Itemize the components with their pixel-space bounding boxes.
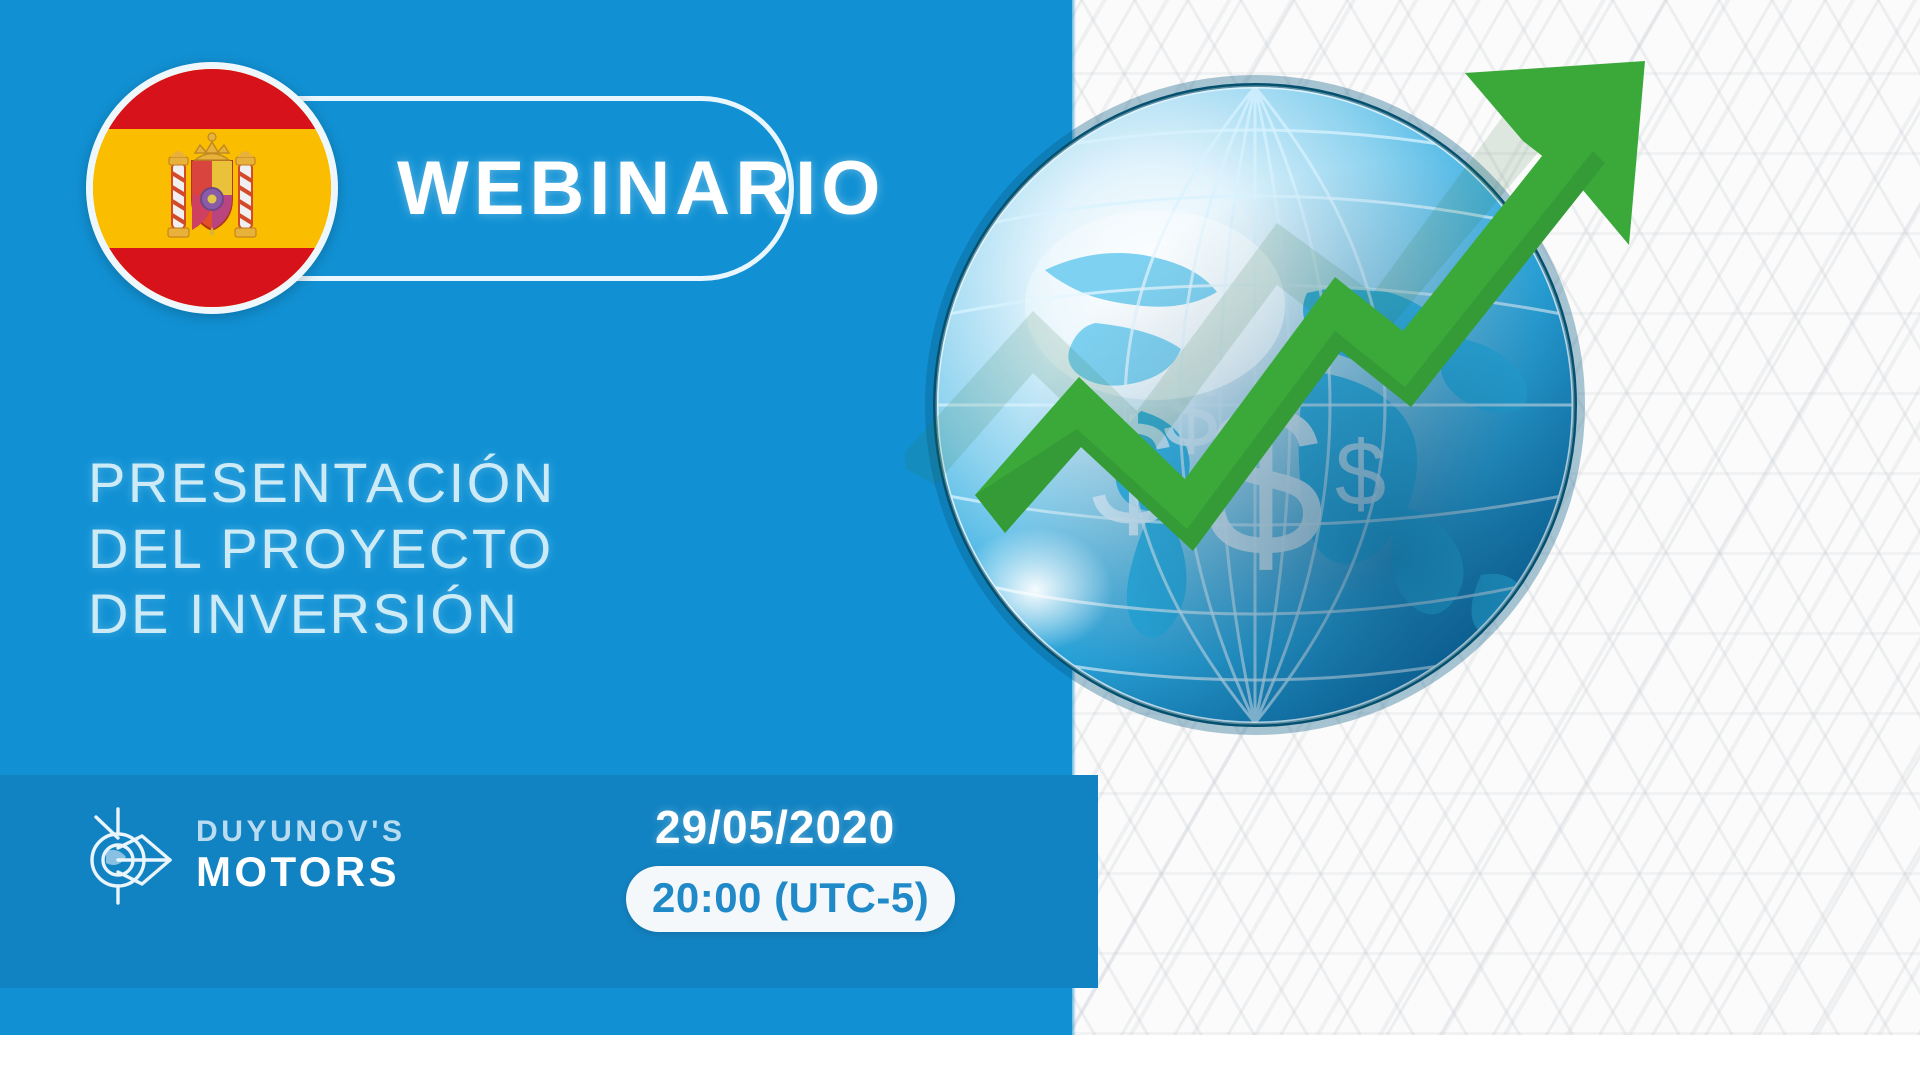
brand-name-top: DUYUNOV'S: [196, 817, 406, 847]
growth-arrow-icon: [905, 55, 1665, 845]
brand-name-bottom: MOTORS: [196, 851, 406, 893]
heading-line-3: DE INVERSIÓN: [88, 581, 728, 647]
banner-root: WEBINARIO: [0, 0, 1920, 1080]
flag-stripe-bottom: [93, 248, 331, 308]
event-time-badge: 20:00 (UTC-5): [626, 866, 955, 932]
event-date: 29/05/2020: [655, 800, 895, 854]
duyunov-motors-mark-icon: [84, 805, 176, 905]
globe-graphic: $ $ $ $: [905, 55, 1665, 845]
heading-line-1: PRESENTACIÓN: [88, 450, 728, 516]
page-title: PRESENTACIÓN DEL PROYECTO DE INVERSIÓN: [88, 450, 728, 647]
heading-line-2: DEL PROYECTO: [88, 516, 728, 582]
webinar-label: WEBINARIO: [397, 151, 885, 227]
brand-logo: DUYUNOV'S MOTORS: [84, 805, 406, 905]
spain-flag-icon: [86, 62, 338, 314]
flag-stripe-top: [93, 69, 331, 129]
bottom-strip: [0, 1035, 1920, 1080]
brand-wordmark: DUYUNOV'S MOTORS: [196, 817, 406, 893]
coat-of-arms-icon: [164, 129, 260, 247]
